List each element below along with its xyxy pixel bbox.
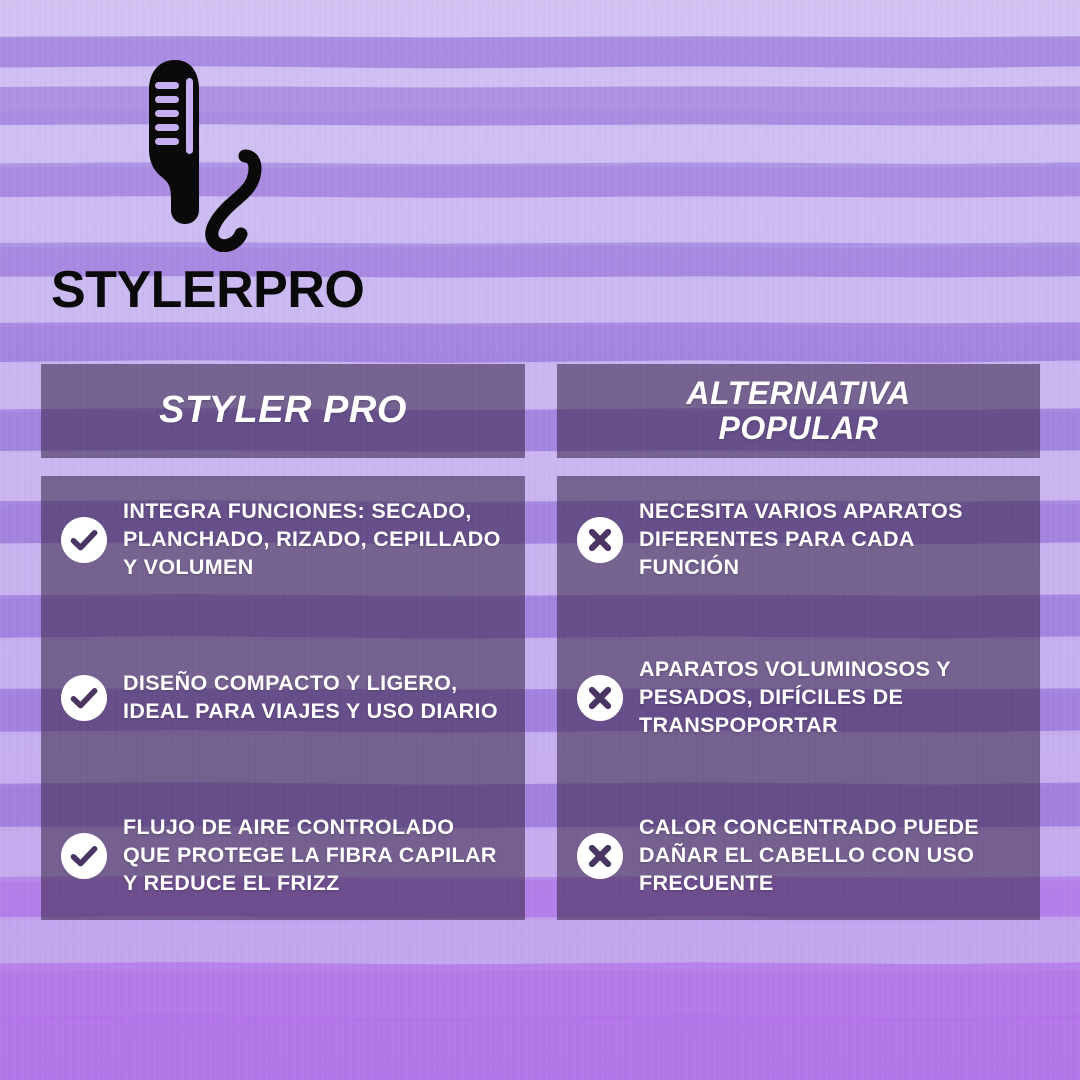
column-right-title-line2: POPULAR	[686, 411, 910, 446]
column-left-header: STYLER PRO	[41, 364, 525, 458]
list-item-text: NECESITA VARIOS APARATOS DIFERENTES PARA…	[639, 498, 1020, 582]
column-right-title: ALTERNATIVA POPULAR	[674, 376, 922, 445]
check-circle-icon	[61, 833, 107, 879]
background-stripe-band	[0, 962, 1080, 1022]
list-item-text: DISEÑO COMPACTO Y LIGERO, IDEAL PARA VIA…	[123, 670, 505, 726]
x-circle-icon	[577, 833, 623, 879]
list-item-text: INTEGRA FUNCIONES: SECADO, PLANCHADO, RI…	[123, 498, 505, 582]
brand-wordmark: STYLERPRO	[51, 264, 364, 316]
list-item: CALOR CONCENTRADO PUEDE DAÑAR EL CABELLO…	[573, 814, 1024, 898]
background-stripe-band	[0, 322, 1080, 366]
column-right-title-line1: ALTERNATIVA	[686, 376, 910, 411]
comparison-column-right: ALTERNATIVA POPULAR NECESITA VARIOS APAR…	[557, 364, 1040, 920]
column-right-header: ALTERNATIVA POPULAR	[557, 364, 1040, 458]
list-item: FLUJO DE AIRE CONTROLADO QUE PROTEGE LA …	[57, 814, 509, 898]
list-item-text: FLUJO DE AIRE CONTROLADO QUE PROTEGE LA …	[123, 814, 505, 898]
check-circle-icon	[61, 517, 107, 563]
background-stripe-band	[0, 0, 1080, 40]
hair-styler-brush-icon	[141, 52, 269, 252]
list-item: APARATOS VOLUMINOSOS Y PESADOS, DIFÍCILE…	[573, 656, 1024, 740]
list-item-text: CALOR CONCENTRADO PUEDE DAÑAR EL CABELLO…	[639, 814, 1020, 898]
check-circle-icon	[61, 675, 107, 721]
list-item-text: APARATOS VOLUMINOSOS Y PESADOS, DIFÍCILE…	[639, 656, 1020, 740]
list-item: INTEGRA FUNCIONES: SECADO, PLANCHADO, RI…	[57, 498, 509, 582]
background-stripe-band	[0, 1014, 1080, 1080]
column-left-body: INTEGRA FUNCIONES: SECADO, PLANCHADO, RI…	[41, 476, 525, 920]
column-left-title: STYLER PRO	[147, 390, 419, 431]
list-item: DISEÑO COMPACTO Y LIGERO, IDEAL PARA VIA…	[57, 670, 509, 726]
column-right-body: NECESITA VARIOS APARATOS DIFERENTES PARA…	[557, 476, 1040, 920]
x-circle-icon	[577, 517, 623, 563]
poster-canvas: STYLERPRO STYLER PRO INTEGRA FUNCIONES: …	[0, 0, 1080, 1080]
x-circle-icon	[577, 675, 623, 721]
comparison-column-left: STYLER PRO INTEGRA FUNCIONES: SECADO, PL…	[41, 364, 525, 920]
list-item: NECESITA VARIOS APARATOS DIFERENTES PARA…	[573, 498, 1024, 582]
